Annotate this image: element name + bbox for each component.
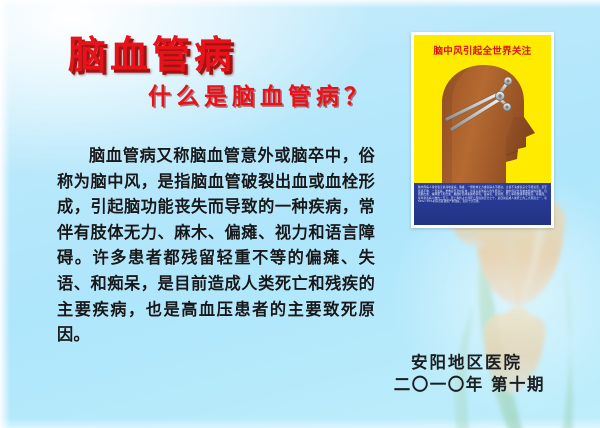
head-profile-with-clamp-icon	[414, 59, 551, 183]
page-title: 脑血管病	[68, 36, 236, 74]
top-edge-highlight	[0, 0, 600, 8]
inset-poster-headline: 脑中风引起全世界关注	[414, 43, 551, 57]
publisher-organization: 安阳地区医院	[411, 349, 522, 373]
left-edge-highlight	[0, 0, 10, 428]
inset-poster: 脑中风引起全世界关注	[411, 32, 554, 228]
inset-poster-caption: 脑中风病人常常毫无前兆地发病，偏瘫、一侧肢体无力或者麻木不能动，言语不清或者完全…	[418, 186, 547, 204]
inset-poster-yellow-panel: 脑中风引起全世界关注	[414, 35, 551, 183]
page-subtitle: 什么是脑血管病？	[148, 86, 372, 109]
poster-canvas: 脑血管病 什么是脑血管病？ 脑血管病又称脑血管意外或脑卒中，俗称为脑中风，是指脑…	[0, 0, 600, 428]
publication-issue: 二〇一〇年 第十期	[394, 371, 545, 395]
inset-poster-caption-panel: 脑中风病人常常毫无前兆地发病，偏瘫、一侧肢体无力或者麻木不能动，言语不清或者完全…	[414, 183, 551, 225]
article-body: 脑血管病又称脑血管意外或脑卒中，俗称为脑中风，是指脑血管破裂出血或血栓形成，引起…	[57, 143, 375, 348]
